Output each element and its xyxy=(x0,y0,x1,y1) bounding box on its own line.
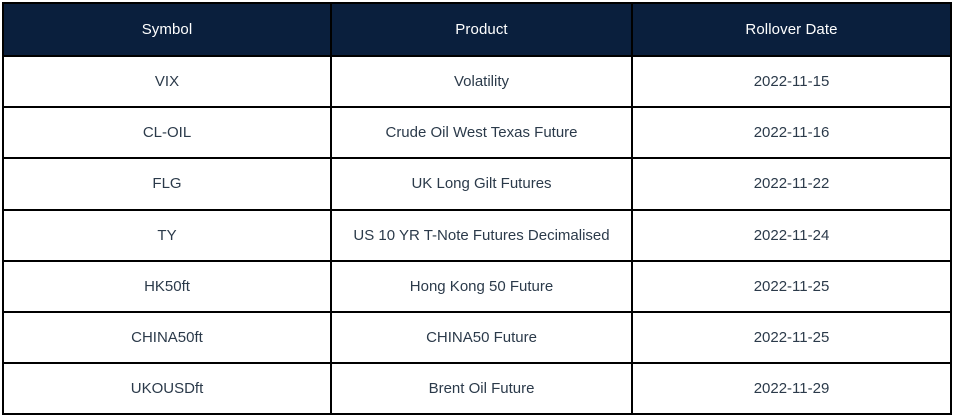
cell-product: Crude Oil West Texas Future xyxy=(331,107,632,158)
cell-rollover-date: 2022-11-16 xyxy=(632,107,951,158)
table-header: Symbol Product Rollover Date xyxy=(3,3,951,56)
cell-symbol: HK50ft xyxy=(3,261,331,312)
table-row: CL-OIL Crude Oil West Texas Future 2022-… xyxy=(3,107,951,158)
cell-rollover-date: 2022-11-15 xyxy=(632,56,951,107)
table-row: HK50ft Hong Kong 50 Future 2022-11-25 xyxy=(3,261,951,312)
table-row: CHINA50ft CHINA50 Future 2022-11-25 xyxy=(3,312,951,363)
table-row: UKOUSDft Brent Oil Future 2022-11-29 xyxy=(3,363,951,414)
cell-product: US 10 YR T-Note Futures Decimalised xyxy=(331,210,632,261)
cell-product: Hong Kong 50 Future xyxy=(331,261,632,312)
cell-symbol: TY xyxy=(3,210,331,261)
cell-product: Brent Oil Future xyxy=(331,363,632,414)
cell-rollover-date: 2022-11-24 xyxy=(632,210,951,261)
column-header-product: Product xyxy=(331,3,632,56)
column-header-symbol: Symbol xyxy=(3,3,331,56)
rollover-table-container: Symbol Product Rollover Date VIX Volatil… xyxy=(2,2,950,414)
cell-rollover-date: 2022-11-25 xyxy=(632,312,951,363)
cell-symbol: CHINA50ft xyxy=(3,312,331,363)
cell-symbol: VIX xyxy=(3,56,331,107)
rollover-table: Symbol Product Rollover Date VIX Volatil… xyxy=(2,2,952,415)
table-row: VIX Volatility 2022-11-15 xyxy=(3,56,951,107)
table-row: TY US 10 YR T-Note Futures Decimalised 2… xyxy=(3,210,951,261)
cell-rollover-date: 2022-11-25 xyxy=(632,261,951,312)
table-header-row: Symbol Product Rollover Date xyxy=(3,3,951,56)
cell-symbol: UKOUSDft xyxy=(3,363,331,414)
column-header-rollover-date: Rollover Date xyxy=(632,3,951,56)
cell-rollover-date: 2022-11-29 xyxy=(632,363,951,414)
table-body: VIX Volatility 2022-11-15 CL-OIL Crude O… xyxy=(3,56,951,414)
cell-symbol: CL-OIL xyxy=(3,107,331,158)
cell-rollover-date: 2022-11-22 xyxy=(632,158,951,209)
table-row: FLG UK Long Gilt Futures 2022-11-22 xyxy=(3,158,951,209)
cell-product: UK Long Gilt Futures xyxy=(331,158,632,209)
cell-symbol: FLG xyxy=(3,158,331,209)
cell-product: CHINA50 Future xyxy=(331,312,632,363)
cell-product: Volatility xyxy=(331,56,632,107)
